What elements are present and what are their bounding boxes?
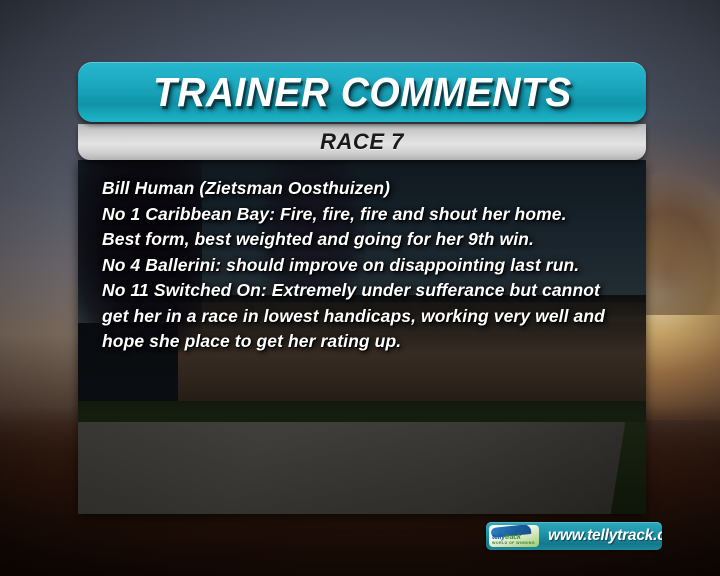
tellytrack-logo: tellytrack WORLD OF WINNING — [489, 525, 539, 547]
comment-line: get her in a race in lowest handicaps, w… — [102, 304, 630, 330]
race-number-label: RACE 7 — [320, 129, 404, 155]
trainer-comments-text: Bill Human (Zietsman Oosthuizen) No 1 Ca… — [102, 176, 630, 355]
logo-wordmark-part1: telly — [492, 534, 505, 541]
card-subtitle-bar: RACE 7 — [78, 124, 646, 160]
comment-line: hope she place to get her rating up. — [102, 329, 630, 355]
page-title: TRAINER COMMENTS — [153, 69, 572, 116]
comments-panel: Bill Human (Zietsman Oosthuizen) No 1 Ca… — [78, 160, 646, 514]
comment-line: No 4 Ballerini: should improve on disapp… — [102, 253, 630, 279]
trainer-comments-card: TRAINER COMMENTS RACE 7 Bill Human (Ziet… — [78, 62, 646, 514]
website-banner: tellytrack WORLD OF WINNING www.tellytra… — [486, 522, 662, 550]
comment-line: Best form, best weighted and going for h… — [102, 227, 630, 253]
comment-line: No 1 Caribbean Bay: Fire, fire, fire and… — [102, 202, 630, 228]
logo-tagline: WORLD OF WINNING — [492, 541, 535, 545]
broadcast-graphic-screen: TRAINER COMMENTS RACE 7 Bill Human (Ziet… — [0, 0, 720, 576]
comment-line: Bill Human (Zietsman Oosthuizen) — [102, 176, 630, 202]
logo-wordmark: tellytrack — [492, 534, 521, 541]
logo-wordmark-part2: track — [505, 534, 521, 541]
website-url-label: www.tellytrack.com — [548, 527, 662, 545]
comment-line: No 11 Switched On: Extremely under suffe… — [102, 278, 630, 304]
card-title-bar: TRAINER COMMENTS — [78, 62, 646, 122]
